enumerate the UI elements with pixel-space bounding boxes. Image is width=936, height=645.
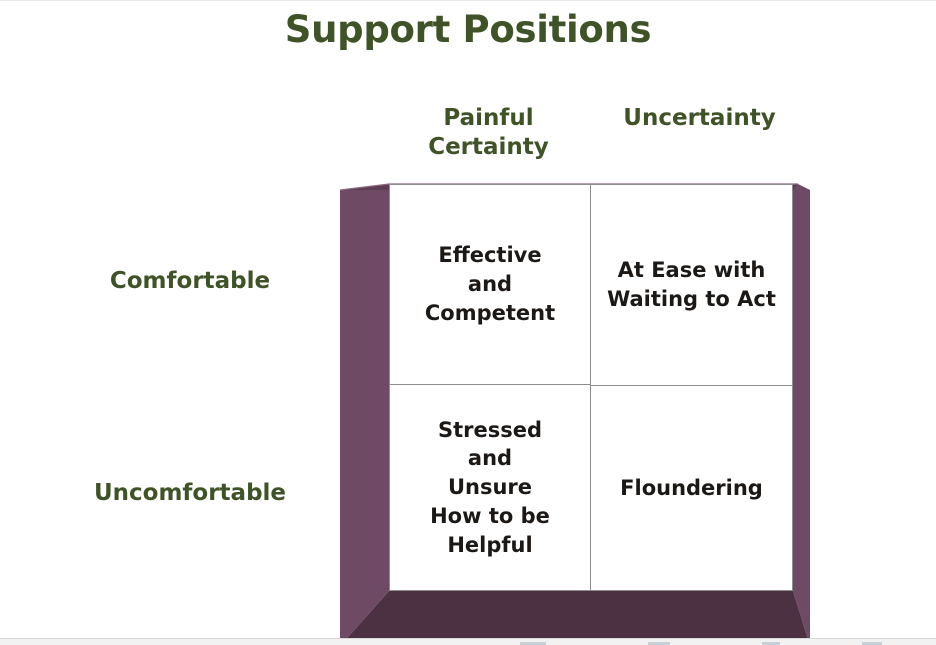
quadrant-grid: Effective and Competent At Ease with Wai…: [389, 184, 793, 591]
frame-right-wall-shade: [793, 190, 810, 599]
cell-line-1: Stressed: [430, 416, 550, 445]
quadrant-cell-text: Effective and Competent: [425, 241, 555, 327]
cell-line-1: Effective: [425, 241, 555, 270]
column-header-painful-certainty-line2: Certainty: [428, 134, 549, 160]
cell-line-3: Competent: [425, 299, 555, 328]
frame-floor: [340, 591, 810, 645]
cell-line-5: Helpful: [430, 531, 550, 560]
column-header-painful-certainty-line1: Painful: [443, 105, 533, 131]
quadrant-cell-text: Stressed and Unsure How to be Helpful: [430, 416, 550, 560]
page-title: Support Positions: [0, 9, 936, 52]
row-header-comfortable: Comfortable: [40, 267, 340, 296]
cell-line-4: How to be: [430, 502, 550, 531]
row-header-uncomfortable: Uncomfortable: [40, 479, 340, 508]
quadrant-cell-text: At Ease with Waiting to Act: [607, 256, 776, 314]
cell-line-2: Waiting to Act: [607, 285, 776, 314]
column-header-uncertainty: Uncertainty: [592, 104, 807, 133]
cell-line-2: and: [430, 444, 550, 473]
quadrant-cell-comfortable-painful-certainty[interactable]: Effective and Competent: [390, 185, 591, 385]
column-header-uncertainty-line1: Uncertainty: [623, 105, 775, 131]
frame-left-wall: [340, 184, 389, 645]
quadrant-cell-uncomfortable-painful-certainty[interactable]: Stressed and Unsure How to be Helpful: [390, 385, 591, 590]
column-header-painful-certainty: Painful Certainty: [386, 104, 591, 163]
slide-canvas: Support Positions Painful Certainty Unce…: [0, 0, 936, 645]
cutoff-bottom-bar: [0, 638, 936, 645]
cell-line-1: At Ease with: [607, 256, 776, 285]
quadrant-cell-comfortable-uncertainty[interactable]: At Ease with Waiting to Act: [591, 185, 792, 385]
quadrant-cell-uncomfortable-uncertainty[interactable]: Floundering: [591, 385, 792, 590]
cell-line-3: Unsure: [430, 473, 550, 502]
cell-line-2: and: [425, 270, 555, 299]
cell-line-1: Floundering: [620, 474, 763, 503]
quadrant-cell-text: Floundering: [620, 474, 763, 503]
